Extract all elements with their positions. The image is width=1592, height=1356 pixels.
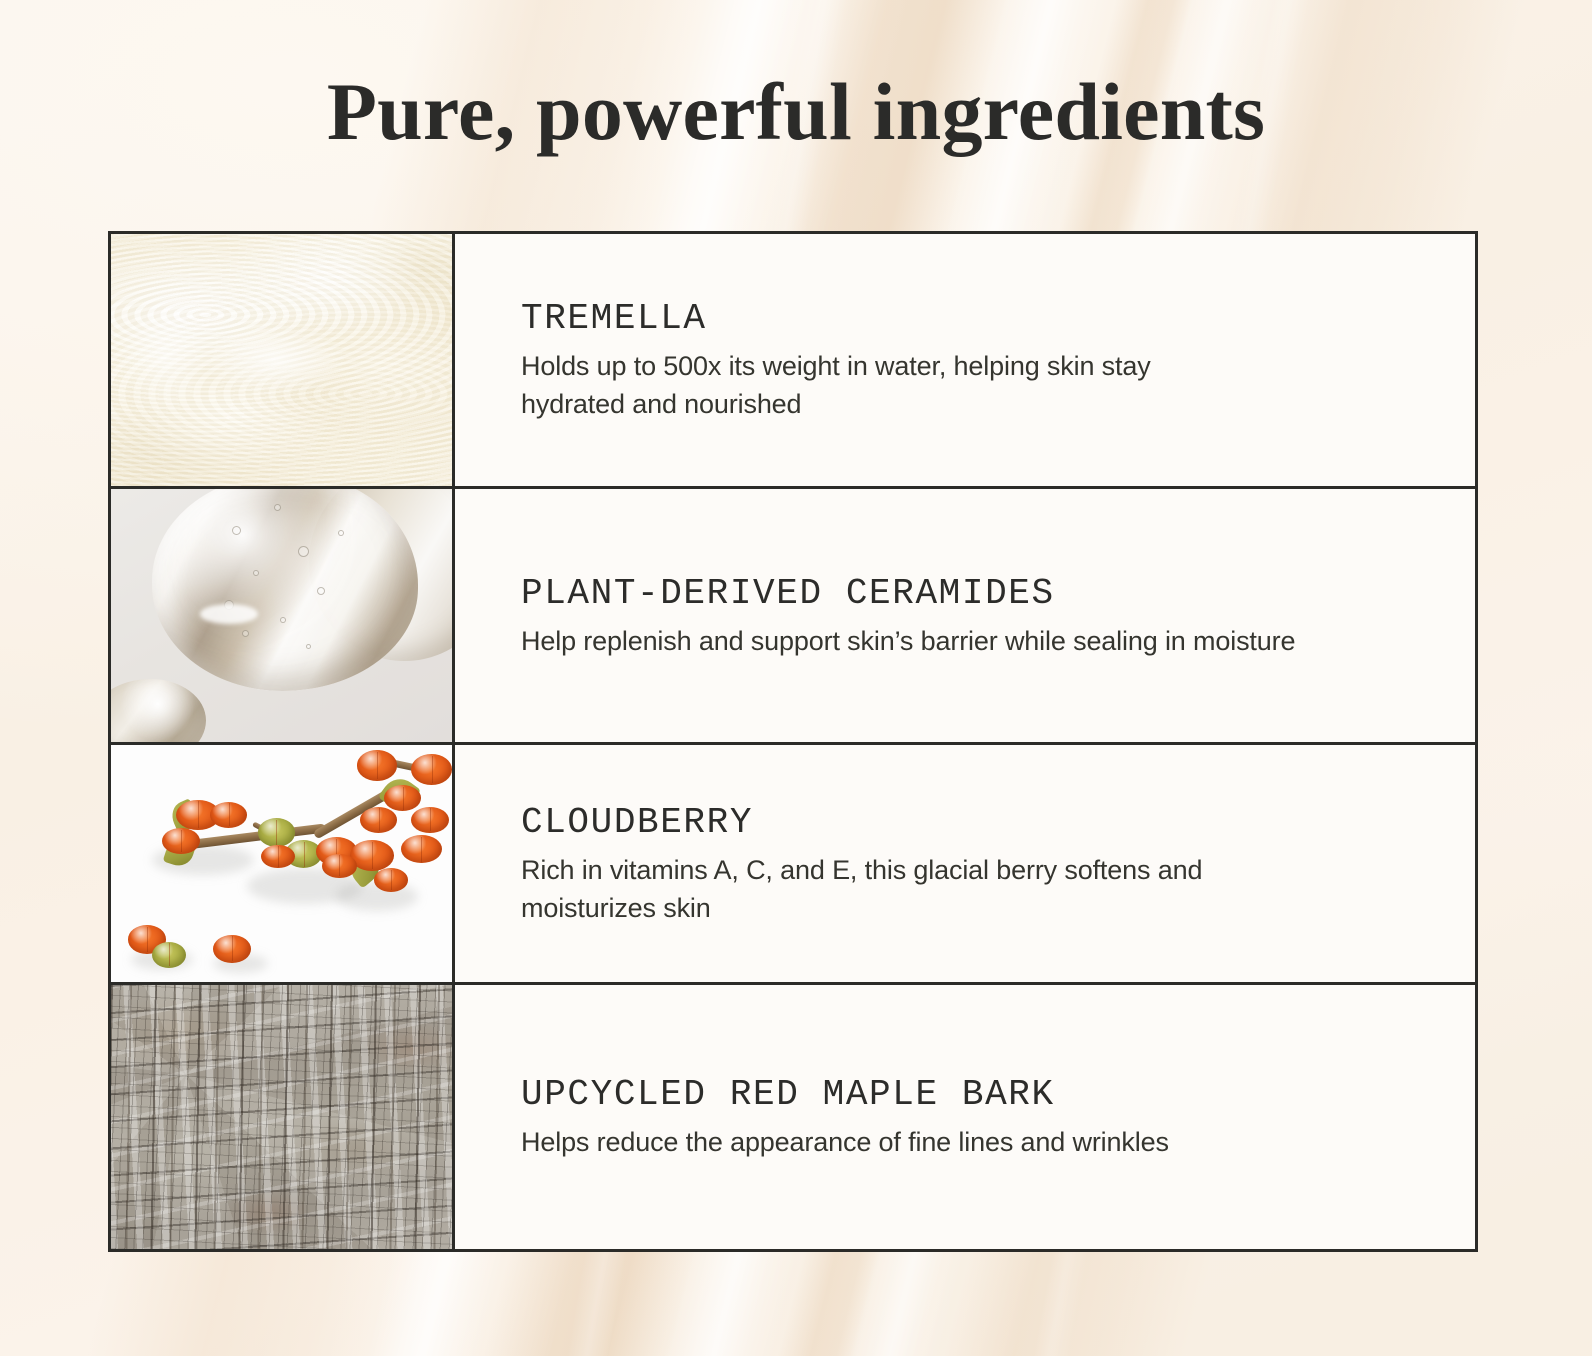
bubble-icon (317, 587, 325, 595)
berry (384, 785, 422, 811)
ingredient-text-cell: TREMELLA Holds up to 500x its weight in … (455, 234, 1475, 486)
bubble-icon (274, 504, 281, 511)
ingredient-text-cell: UPCYCLED RED MAPLE BARK Helps reduce the… (455, 985, 1475, 1249)
berry (210, 802, 248, 828)
cloudberry-image (111, 745, 455, 982)
berry (213, 935, 251, 963)
berry (411, 754, 452, 785)
bubble-icon (253, 570, 259, 576)
berry (258, 818, 296, 846)
cloudberry-texture (111, 745, 452, 982)
berry (374, 868, 408, 892)
bubble-icon (224, 600, 234, 610)
bubble-icon (306, 644, 311, 649)
berry (360, 807, 398, 833)
bubble-icon (232, 526, 241, 535)
red-maple-bark-image (111, 985, 455, 1249)
ingredient-name: PLANT-DERIVED CERAMIDES (521, 572, 1431, 616)
tremella-texture (111, 234, 452, 486)
gel-droplet-large (152, 489, 418, 691)
berry (152, 942, 186, 968)
table-row: TREMELLA Holds up to 500x its weight in … (111, 234, 1475, 489)
berry (401, 835, 442, 863)
bubble-icon (242, 630, 249, 637)
ingredient-description: Helps reduce the appearance of fine line… (521, 1123, 1431, 1161)
bubble-icon (280, 617, 286, 623)
ingredient-description: Help replenish and support skin’s barrie… (521, 622, 1431, 660)
ingredients-table: TREMELLA Holds up to 500x its weight in … (108, 231, 1478, 1252)
ingredient-name: CLOUDBERRY (521, 801, 1431, 845)
ceramides-image (111, 489, 455, 742)
berry (322, 854, 356, 878)
bubble-icon (338, 530, 344, 536)
ingredient-description: Holds up to 500x its weight in water, he… (521, 347, 1261, 423)
berry (357, 750, 398, 781)
page-title: Pure, powerful ingredients (0, 64, 1592, 160)
berry (261, 845, 295, 869)
ingredient-name: UPCYCLED RED MAPLE BARK (521, 1073, 1431, 1117)
berry (162, 828, 200, 854)
table-row: CLOUDBERRY Rich in vitamins A, C, and E,… (111, 745, 1475, 985)
ceramides-texture (111, 489, 452, 742)
ingredient-text-cell: CLOUDBERRY Rich in vitamins A, C, and E,… (455, 745, 1475, 982)
table-row: UPCYCLED RED MAPLE BARK Helps reduce the… (111, 985, 1475, 1249)
bubble-icon (298, 546, 309, 557)
gel-droplet-small (111, 679, 206, 742)
table-row: PLANT-DERIVED CERAMIDES Help replenish a… (111, 489, 1475, 745)
ingredient-text-cell: PLANT-DERIVED CERAMIDES Help replenish a… (455, 489, 1475, 742)
berry (411, 807, 449, 833)
ingredient-description: Rich in vitamins A, C, and E, this glaci… (521, 851, 1261, 927)
tremella-image (111, 234, 455, 486)
bark-texture (111, 985, 452, 1249)
ingredients-page: Pure, powerful ingredients TREMELLA Hold… (0, 0, 1592, 1356)
ingredient-name: TREMELLA (521, 297, 1431, 341)
